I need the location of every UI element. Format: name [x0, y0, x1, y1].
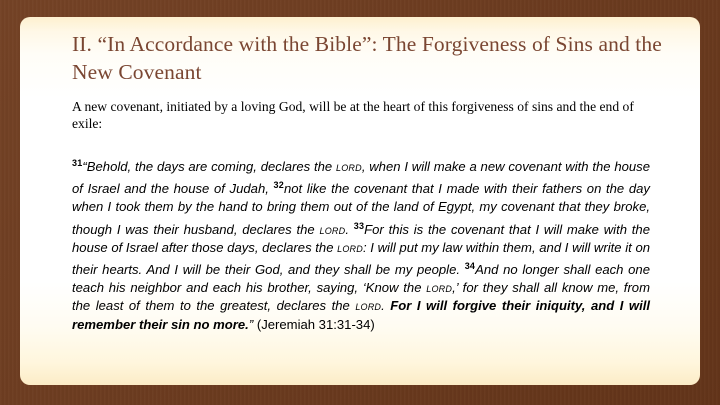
- page-title: II. “In Accordance with the Bible”: The …: [72, 30, 662, 86]
- content-panel: II. “In Accordance with the Bible”: The …: [20, 17, 700, 385]
- divine-name-lord: Lord: [426, 280, 452, 295]
- divine-name-lord: Lord: [320, 222, 346, 237]
- quote-text-31a: “Behold, the days are coming, declares t…: [82, 159, 336, 174]
- divine-name-lord: Lord: [355, 298, 381, 313]
- quote-text-34c: .: [381, 298, 390, 313]
- quote-closing-mark: ”: [249, 317, 257, 332]
- verse-number-32: 32: [274, 180, 284, 190]
- verse-number-34: 34: [465, 261, 475, 271]
- scripture-citation: (Jeremiah 31:31-34): [257, 317, 375, 332]
- divine-name-lord: Lord: [337, 240, 363, 255]
- panel-body: II. “In Accordance with the Bible”: The …: [20, 17, 700, 334]
- verse-number-33: 33: [354, 221, 364, 231]
- intro-paragraph: A new covenant, initiated by a loving Go…: [72, 98, 652, 132]
- verse-number-31: 31: [72, 158, 82, 168]
- quote-text-32b: .: [345, 222, 353, 237]
- scripture-quote-block: 31“Behold, the days are coming, declares…: [72, 154, 650, 334]
- divine-name-lord: Lord: [336, 159, 362, 174]
- slide-frame: II. “In Accordance with the Bible”: The …: [0, 0, 720, 405]
